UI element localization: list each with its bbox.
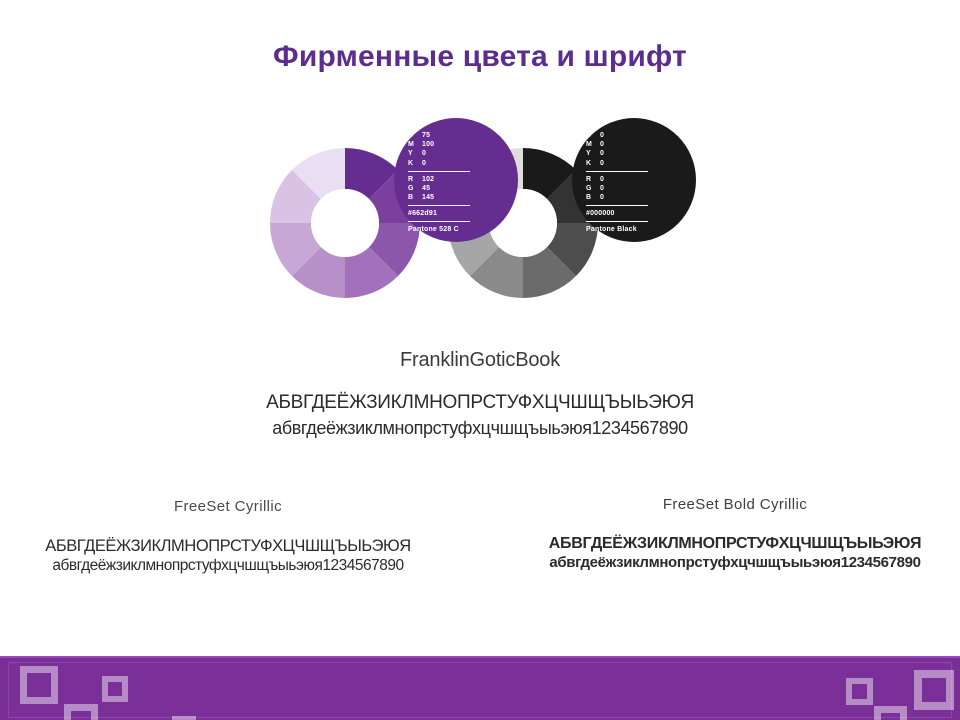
footer-decorative-band — [0, 644, 960, 720]
rgb-key: R — [408, 175, 422, 184]
rgb-row: R0 — [586, 175, 696, 184]
cmyk-row: C75 — [408, 131, 518, 140]
cmyk-key: C — [408, 131, 422, 140]
cmyk-value: 0 — [600, 131, 604, 140]
primary-font-lowercase-alphabet: абвгдеёжзиклмнопрстуфхцчшщъыьэюя12345678… — [0, 418, 960, 439]
cmyk-value: 0 — [600, 149, 604, 158]
cmyk-key: C — [586, 131, 600, 140]
secondary-font-specimen: FreeSet Cyrillic АБВГДЕЁЖЗИКЛМНОПРСТУФХЦ… — [18, 498, 438, 575]
rgb-key: R — [586, 175, 600, 184]
rgb-row: R102 — [408, 175, 518, 184]
rgb-row: G45 — [408, 184, 518, 193]
pantone-value: Pantone 528 C — [408, 225, 518, 234]
rgb-row: G0 — [586, 184, 696, 193]
secondary-bold-font-specimen: FreeSet Bold Cyrillic АБВГДЕЁЖЗИКЛМНОПРС… — [520, 496, 950, 571]
primary-font-name: FranklinGoticBook — [0, 349, 960, 372]
rgb-key: G — [408, 184, 422, 193]
cmyk-key: Y — [586, 149, 600, 158]
rgb-value: 145 — [422, 193, 434, 202]
footer-square-motif — [874, 706, 907, 720]
cmyk-row: M0 — [586, 140, 696, 149]
cmyk-value: 75 — [422, 131, 430, 140]
rgb-row: B0 — [586, 193, 696, 202]
cmyk-row: C0 — [586, 131, 696, 140]
hex-value: #000000 — [586, 209, 696, 218]
secondary-font-uppercase-alphabet: АБВГДЕЁЖЗИКЛМНОПРСТУФХЦЧШЩЪЫЬЭЮЯ — [18, 537, 438, 556]
rgb-value: 102 — [422, 175, 434, 184]
footer-square-motif — [20, 666, 58, 704]
cmyk-row: Y0 — [408, 149, 518, 158]
rgb-value: 45 — [422, 184, 430, 193]
cmyk-key: M — [408, 140, 422, 149]
rgb-value: 0 — [600, 175, 604, 184]
swatch-card-purple: C75 M100 Y0 K0 R102 G45 B145 #662d91 Pan… — [394, 118, 518, 242]
rgb-row: B145 — [408, 193, 518, 202]
divider — [408, 205, 470, 206]
divider — [586, 205, 648, 206]
footer-square-motif — [172, 716, 196, 720]
cmyk-row: K0 — [408, 159, 518, 168]
hex-value: #662d91 — [408, 209, 518, 218]
page-title: Фирменные цвета и шрифт — [0, 40, 960, 74]
cmyk-key: K — [586, 159, 600, 168]
swatch-black-values: C0 M0 Y0 K0 R0 G0 B0 #000000 Pantone Bla… — [586, 131, 696, 234]
divider — [408, 221, 470, 222]
cmyk-value: 100 — [422, 140, 434, 149]
footer-square-motif — [914, 670, 954, 710]
divider — [586, 171, 648, 172]
cmyk-value: 0 — [422, 159, 426, 168]
swatch-purple-values: C75 M100 Y0 K0 R102 G45 B145 #662d91 Pan… — [408, 131, 518, 234]
cmyk-row: M100 — [408, 140, 518, 149]
brand-colors-graphic: C75 M100 Y0 K0 R102 G45 B145 #662d91 Pan… — [270, 118, 690, 308]
footer-band-inner — [8, 662, 952, 718]
cmyk-row: Y0 — [586, 149, 696, 158]
divider — [408, 171, 470, 172]
footer-square-motif — [102, 676, 128, 702]
cmyk-key: M — [586, 140, 600, 149]
rgb-key: G — [586, 184, 600, 193]
divider — [586, 221, 648, 222]
rgb-key: B — [408, 193, 422, 202]
cmyk-value: 0 — [600, 140, 604, 149]
rgb-value: 0 — [600, 184, 604, 193]
secondary-bold-font-uppercase-alphabet: АБВГДЕЁЖЗИКЛМНОПРСТУФХЦЧШЩЪЫЬЭЮЯ — [520, 535, 950, 553]
rgb-value: 0 — [600, 193, 604, 202]
cmyk-value: 0 — [422, 149, 426, 158]
rgb-key: B — [586, 193, 600, 202]
pantone-value: Pantone Black — [586, 225, 696, 234]
footer-square-motif — [846, 678, 873, 705]
cmyk-value: 0 — [600, 159, 604, 168]
swatch-card-black: C0 M0 Y0 K0 R0 G0 B0 #000000 Pantone Bla… — [572, 118, 696, 242]
cmyk-row: K0 — [586, 159, 696, 168]
cmyk-key: K — [408, 159, 422, 168]
secondary-font-name: FreeSet Cyrillic — [18, 498, 438, 515]
secondary-bold-font-name: FreeSet Bold Cyrillic — [520, 496, 950, 513]
cmyk-key: Y — [408, 149, 422, 158]
footer-square-motif — [64, 704, 98, 720]
secondary-bold-font-lowercase-alphabet: абвгдеёжзиклмнопрстуфхцчшщъыьэюя12345678… — [520, 554, 950, 571]
primary-font-uppercase-alphabet: АБВГДЕЁЖЗИКЛМНОПРСТУФХЦЧШЩЪЫЬЭЮЯ — [0, 392, 960, 414]
secondary-font-lowercase-alphabet: абвгдеёжзиклмнопрстуфхцчшщъыьэюя12345678… — [18, 557, 438, 575]
